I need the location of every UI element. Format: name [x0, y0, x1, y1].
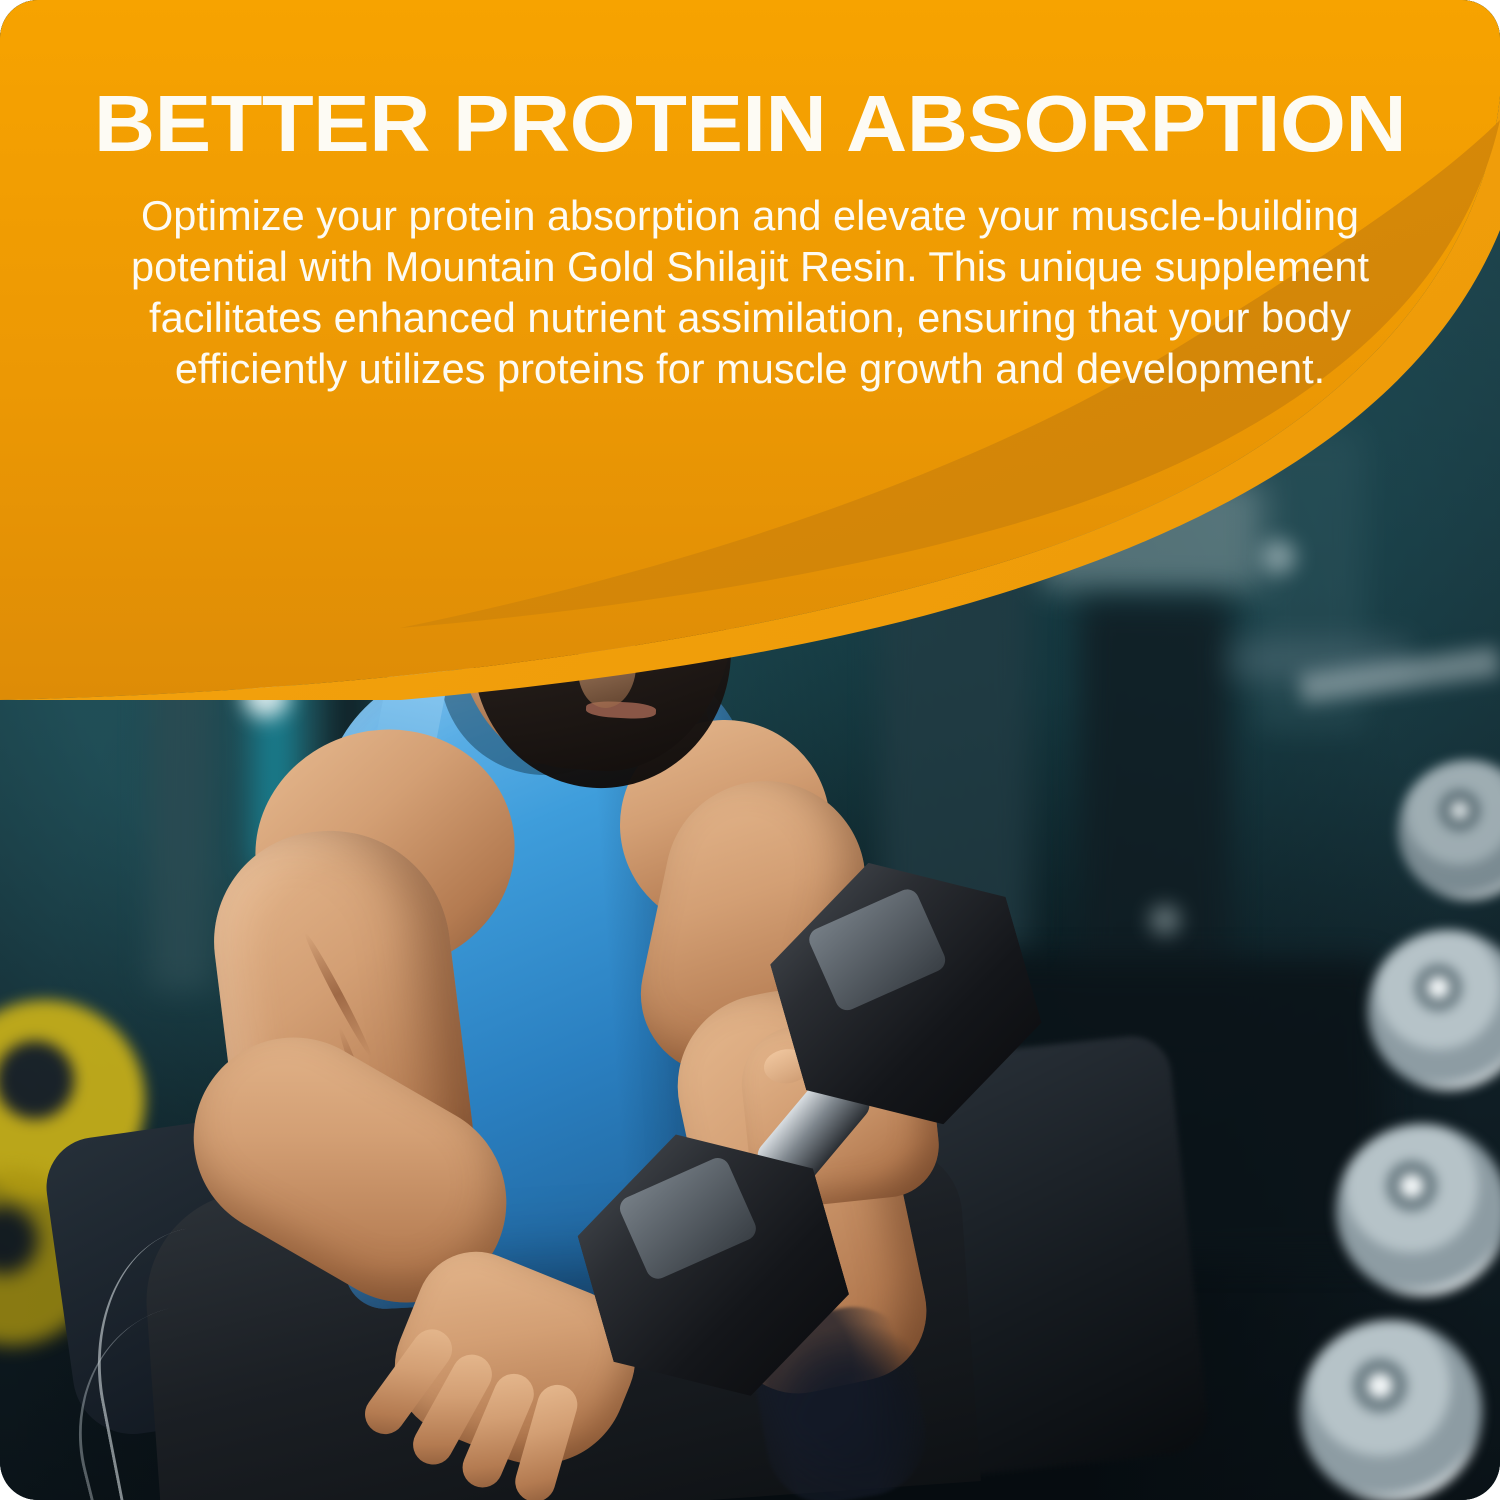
promo-card: BETTER PROTEIN ABSORPTION Optimize your …	[0, 0, 1500, 1500]
bokeh-highlight	[1262, 540, 1296, 574]
page-title: BETTER PROTEIN ABSORPTION	[0, 84, 1500, 164]
body-line-2: potential with Mountain Gold Shilajit Re…	[105, 241, 1395, 292]
body-copy: Optimize your protein absorption and ele…	[105, 190, 1395, 394]
dumbbell-rack-plate	[1300, 1320, 1482, 1500]
body-line-1: Optimize your protein absorption and ele…	[105, 190, 1395, 241]
body-line-3: facilitates enhanced nutrient assimilati…	[105, 292, 1395, 343]
iris	[648, 615, 671, 638]
body-line-4: efficiently utilizes proteins for muscle…	[105, 343, 1395, 394]
dumbbell-rack-plate	[1336, 1124, 1500, 1296]
dumbbell-face	[616, 1154, 760, 1282]
iris	[533, 609, 556, 632]
dumbbell-face	[805, 886, 949, 1014]
